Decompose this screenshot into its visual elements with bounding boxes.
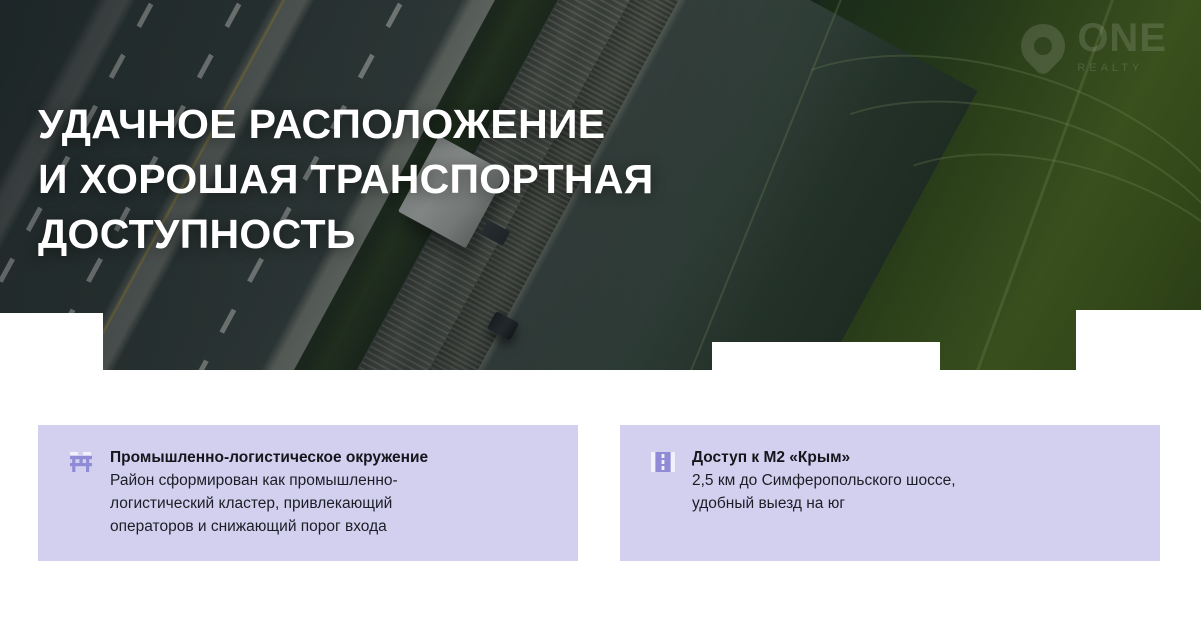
feature-card-body: Доступ к М2 «Крым» 2,5 км до Симферополь… (692, 447, 1136, 516)
photo-mask-right (1076, 310, 1201, 372)
photo-mask-left (0, 313, 103, 373)
photo-mask-bottom (0, 370, 1201, 428)
factory-industrial-icon (68, 449, 94, 475)
feature-card-text: 2,5 км до Симферопольского шоссе, удобны… (692, 470, 1136, 516)
feature-card-industrial[interactable]: Промышленно-логистическое окружение Райо… (38, 425, 578, 561)
feature-card-title: Промышленно-логистическое окружение (110, 447, 554, 469)
feature-card-text: Район сформирован как промышленно- логис… (110, 470, 554, 538)
feature-card-title: Доступ к М2 «Крым» (692, 447, 1136, 469)
slide-root: ONE REALTY УДАЧНОЕ РАСПОЛОЖЕНИЕ И ХОРОША… (0, 0, 1201, 627)
page-title: УДАЧНОЕ РАСПОЛОЖЕНИЕ И ХОРОШАЯ ТРАНСПОРТ… (38, 97, 654, 261)
highway-road-icon (650, 449, 676, 475)
feature-card-list: Промышленно-логистическое окружение Райо… (38, 425, 1161, 561)
feature-card-body: Промышленно-логистическое окружение Райо… (110, 447, 554, 539)
photo-mask-middle (712, 342, 940, 372)
feature-card-highway[interactable]: Доступ к М2 «Крым» 2,5 км до Симферополь… (620, 425, 1160, 561)
